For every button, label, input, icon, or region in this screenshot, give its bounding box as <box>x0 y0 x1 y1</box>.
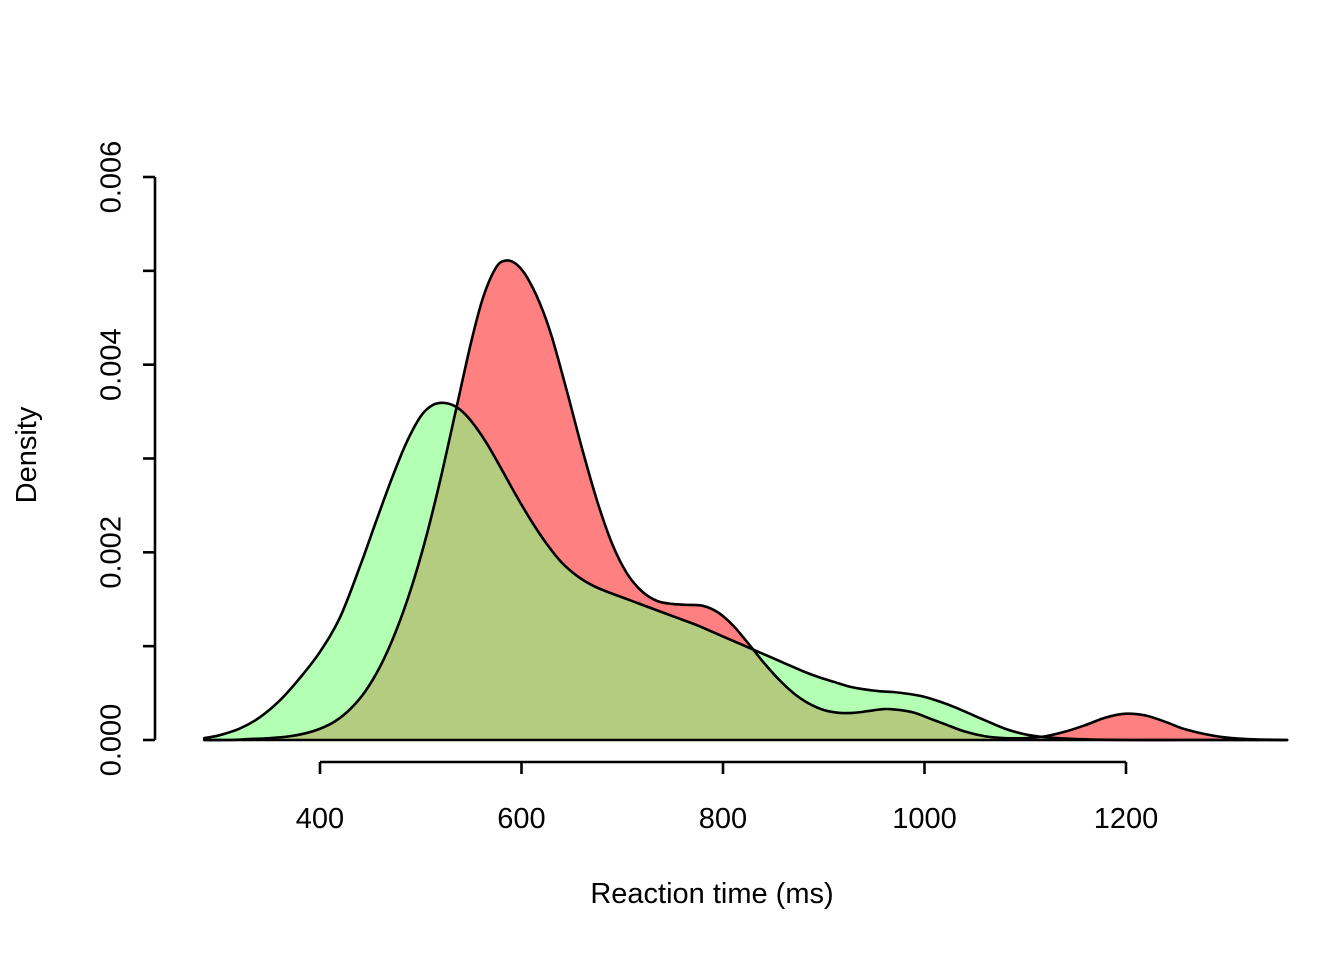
x-tick-label-2: 800 <box>699 803 747 835</box>
x-tick-label-0: 400 <box>296 803 344 835</box>
y-tick-label-2: 0.004 <box>96 328 128 401</box>
x-tick-label-1: 600 <box>497 803 545 835</box>
y-tick-label-0: 0.000 <box>96 704 128 777</box>
y-axis-label: Density <box>11 406 43 503</box>
chart-canvas: 0.0000.0020.0040.00640060080010001200 Re… <box>0 0 1344 960</box>
density-plot-figure: 0.0000.0020.0040.00640060080010001200 Re… <box>0 0 1344 960</box>
x-tick-label-3: 1000 <box>892 803 957 835</box>
y-tick-label-3: 0.006 <box>96 141 128 214</box>
y-tick-label-1: 0.002 <box>96 516 128 589</box>
x-tick-label-4: 1200 <box>1094 803 1159 835</box>
x-axis-label: Reaction time (ms) <box>590 878 833 910</box>
